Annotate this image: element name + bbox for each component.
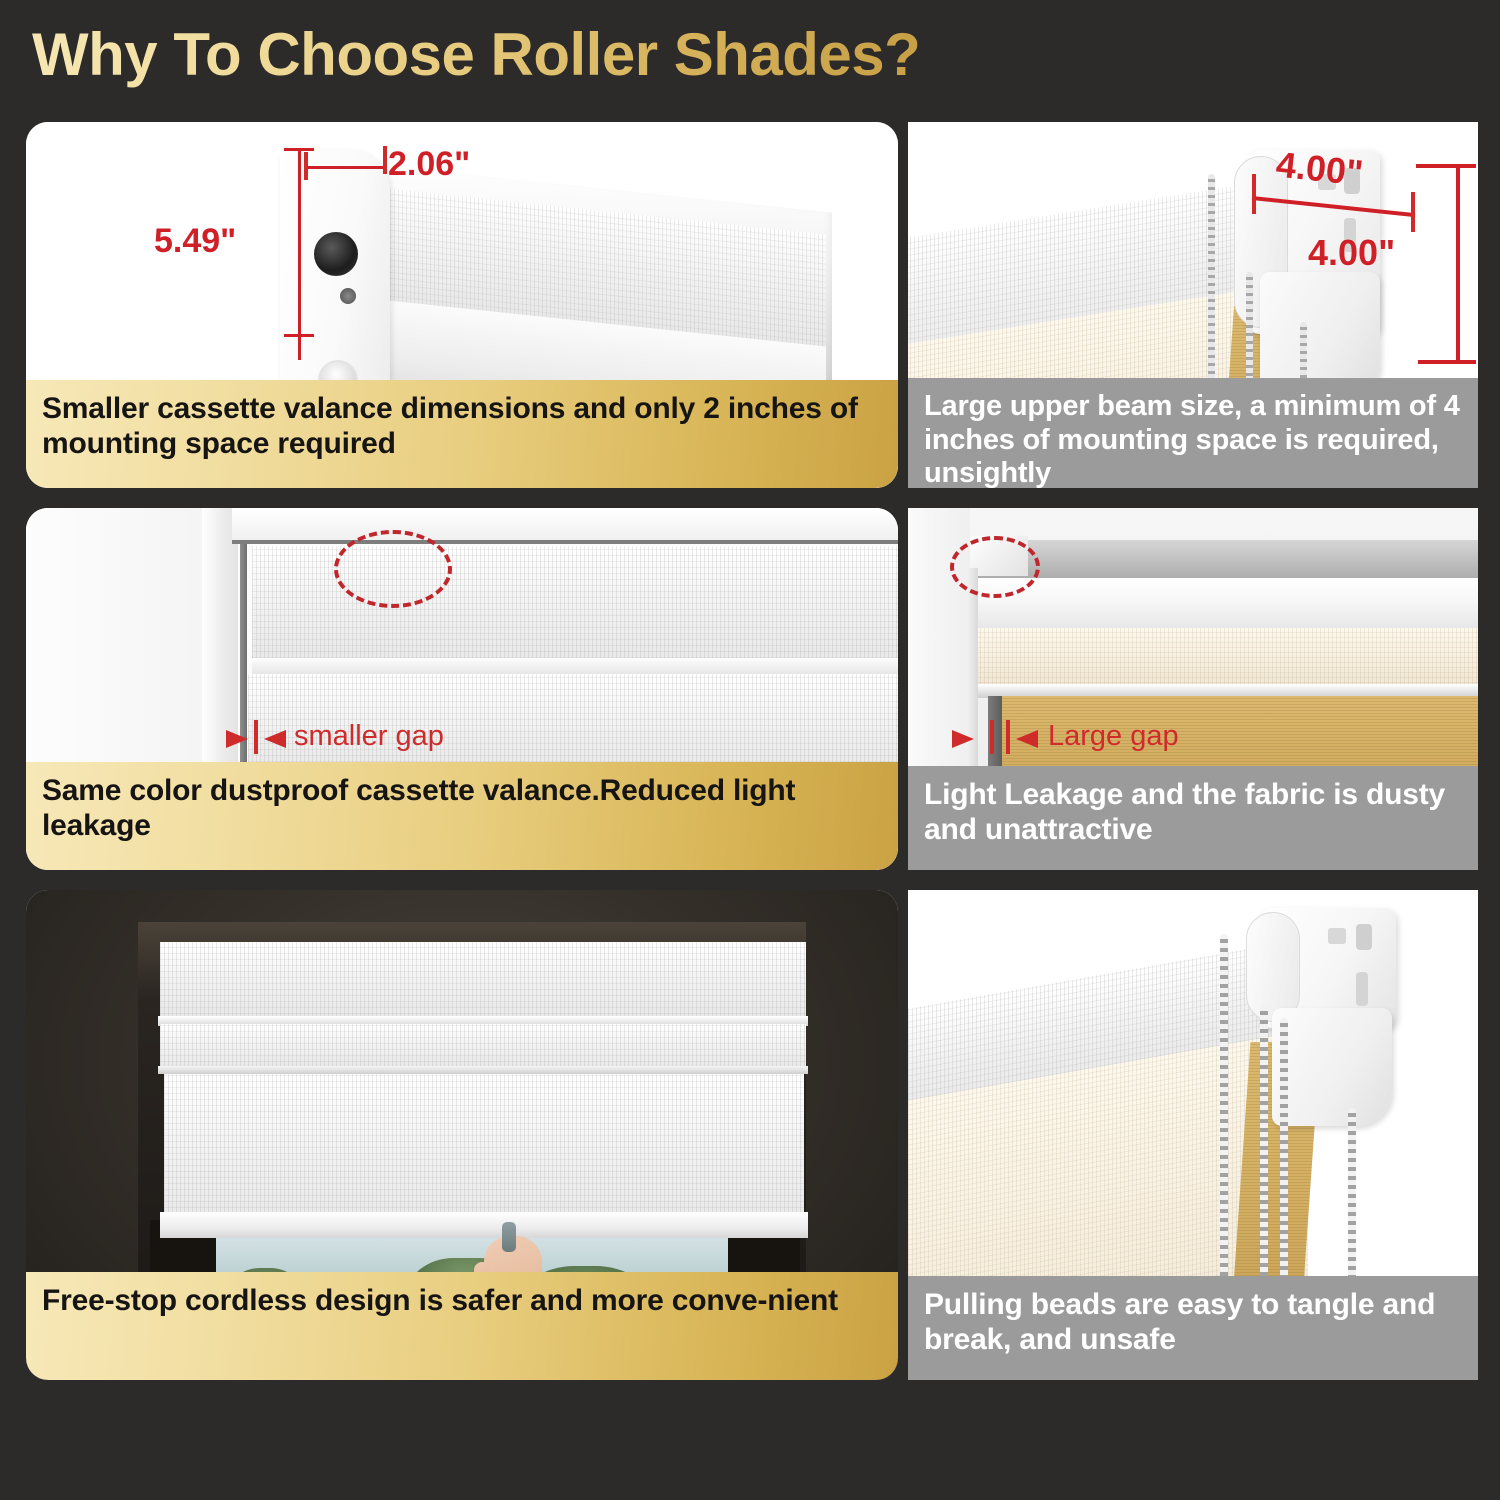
gap-arrow-left [226,730,248,748]
panel-cordless-design: Free-stop cordless design is safer and m… [26,890,898,1380]
beam-width-tick-right [1411,192,1415,232]
beam-height-cap-top [1416,164,1476,168]
gap-arrow-right [264,730,286,748]
beam-height-dimension-line [1456,164,1460,364]
gap-tick-left [990,720,994,754]
gap-highlight-circle [950,536,1040,598]
gap-label: smaller gap [294,720,444,753]
panel-1-caption: Smaller cassette valance dimensions and … [26,380,898,488]
panel-2-caption: Large upper beam size, a minimum of 4 in… [908,378,1478,488]
gap-tick-right [1006,720,1010,754]
width-dimension-tick-right [383,146,387,174]
width-dimension-line [304,166,386,169]
gap-tick [254,720,258,754]
width-dimension-label: 2.06" [388,145,470,184]
height-dimension-cap-top [284,148,314,151]
gap-highlight-circle [334,530,452,608]
height-dimension-cap-bottom [284,334,314,337]
panel-large-gap: Large gap Light Leakage and the fabric i… [908,508,1478,870]
height-dimension-label: 5.49" [154,222,236,261]
panel-large-upper-beam: 4.00" 4.00" Large upper beam size, a min… [908,122,1478,488]
panel-4-caption: Light Leakage and the fabric is dusty an… [908,766,1478,870]
beam-width-tick-left [1252,174,1256,214]
panel-cassette-dimensions: 2.06" 5.49" Smaller cassette valance dim… [26,122,898,488]
beam-height-dimension-label: 4.00" [1308,232,1395,274]
width-dimension-tick-left [304,152,308,180]
beam-width-dimension-label: 4.00" [1274,144,1365,195]
panel-pulling-beads: Pulling beads are easy to tangle and bre… [908,890,1478,1380]
gap-label: Large gap [1048,720,1179,753]
height-dimension-line-lower [298,148,301,360]
beam-height-cap-bottom [1418,360,1476,364]
gap-arrow-left [952,730,974,748]
gap-arrow-right [1016,730,1038,748]
comparison-grid: 2.06" 5.49" Smaller cassette valance dim… [0,0,1500,1500]
panel-3-caption: Same color dustproof cassette valance.Re… [26,762,898,870]
panel-6-caption: Pulling beads are easy to tangle and bre… [908,1276,1478,1380]
panel-smaller-gap: smaller gap Same color dustproof cassett… [26,508,898,870]
panel-5-caption: Free-stop cordless design is safer and m… [26,1272,898,1380]
